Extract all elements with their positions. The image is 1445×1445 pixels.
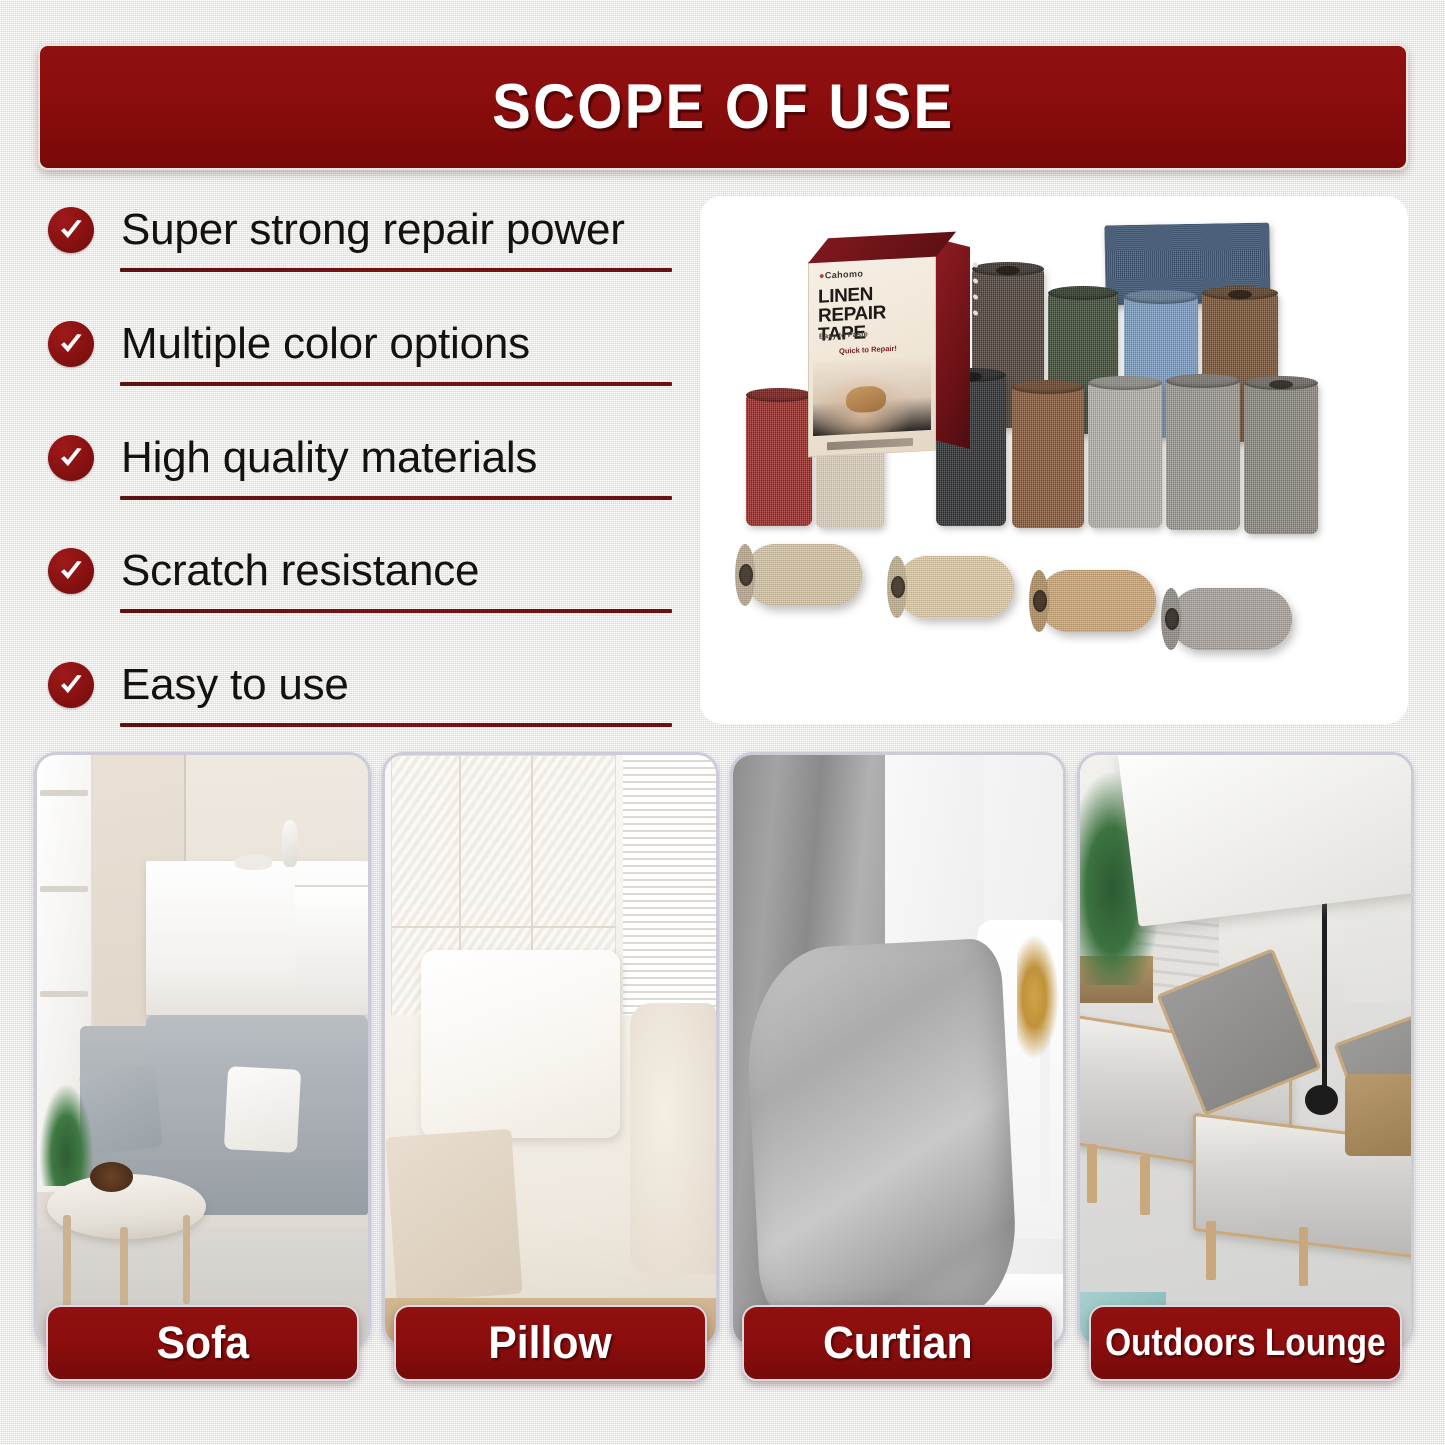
- sofa-photo: [37, 755, 368, 1345]
- use-case-panels: Sofa Pillow: [34, 752, 1414, 1348]
- panel-caption-label: Pillow: [488, 1317, 612, 1369]
- feature-divider: [120, 723, 672, 727]
- feature-item: Scratch resistance: [40, 533, 690, 609]
- rust-brown-roll: [1012, 386, 1084, 528]
- pillow-photo: [385, 755, 716, 1345]
- warm-grey-roll: [1166, 380, 1240, 530]
- tape-rolls-photo: ●Cahomo LINEN REPAIR TAPE Easy to Paste …: [700, 196, 1408, 724]
- outdoors-lounge-photo: [1080, 755, 1411, 1345]
- box-lifestyle-photo: [813, 356, 931, 436]
- feature-label: High quality materials: [121, 433, 537, 483]
- page-title: SCOPE OF USE: [492, 71, 954, 143]
- panel-caption-curtain: Curtian: [742, 1305, 1055, 1381]
- panel-caption-sofa: Sofa: [46, 1305, 359, 1381]
- feature-label: Super strong repair power: [121, 205, 625, 255]
- panel-caption-outdoors-lounge: Outdoors Lounge: [1089, 1305, 1402, 1381]
- panel-caption-label: Outdoors Lounge: [1105, 1322, 1385, 1365]
- check-circle-icon: [48, 207, 94, 253]
- feature-item: Super strong repair power: [40, 192, 690, 268]
- box-side-face: [936, 238, 970, 449]
- woven-cushion: [1345, 1074, 1411, 1157]
- check-circle-icon: [48, 435, 94, 481]
- check-circle-icon: [48, 321, 94, 367]
- check-circle-icon: [48, 662, 94, 708]
- panel-caption-label: Curtian: [823, 1317, 973, 1369]
- feature-label: Multiple color options: [121, 319, 530, 369]
- taupe-roll: [1244, 382, 1318, 534]
- linen-pillow: [421, 950, 619, 1139]
- product-box: ●Cahomo LINEN REPAIR TAPE Easy to Paste …: [808, 255, 936, 458]
- box-tagline-2: Quick to Repair!: [839, 344, 897, 356]
- beige-lying-roll: [744, 544, 862, 606]
- use-case-panel-curtain[interactable]: Curtian: [730, 752, 1067, 1348]
- feature-list: Super strong repair power Multiple color…: [40, 192, 690, 727]
- box-front-face: ●Cahomo LINEN REPAIR TAPE Easy to Paste …: [808, 255, 936, 458]
- grey-lying-roll: [1170, 588, 1292, 650]
- panel-caption-pillow: Pillow: [394, 1305, 707, 1381]
- light-grey-roll: [1088, 382, 1162, 528]
- red-roll: [746, 394, 812, 526]
- use-case-panel-outdoors-lounge[interactable]: Outdoors Lounge: [1077, 752, 1414, 1348]
- sand-lying-roll: [896, 556, 1014, 618]
- panel-caption-label: Sofa: [156, 1317, 249, 1369]
- scope-of-use-banner: SCOPE OF USE: [38, 44, 1408, 170]
- feature-label: Scratch resistance: [121, 546, 479, 596]
- curtain-photo: [733, 755, 1064, 1345]
- use-case-panel-sofa[interactable]: Sofa: [34, 752, 371, 1348]
- use-case-panel-pillow[interactable]: Pillow: [382, 752, 719, 1348]
- feature-item: Easy to use: [40, 647, 690, 723]
- box-spec-strip: [827, 438, 913, 451]
- feature-label: Easy to use: [121, 660, 349, 710]
- knit-throw: [386, 1128, 523, 1302]
- brand-logo: ●Cahomo: [819, 268, 863, 280]
- feature-item: Multiple color options: [40, 306, 690, 382]
- box-feature-bullets: [970, 261, 998, 344]
- umbrella-base: [1305, 1085, 1338, 1115]
- umbrella-pole: [1322, 897, 1327, 1109]
- tan-lying-roll: [1038, 570, 1156, 632]
- product-photo-card: ●Cahomo LINEN REPAIR TAPE Easy to Paste …: [700, 196, 1408, 724]
- dried-flowers: [1017, 932, 1060, 1062]
- check-circle-icon: [48, 548, 94, 594]
- feature-item: High quality materials: [40, 420, 690, 496]
